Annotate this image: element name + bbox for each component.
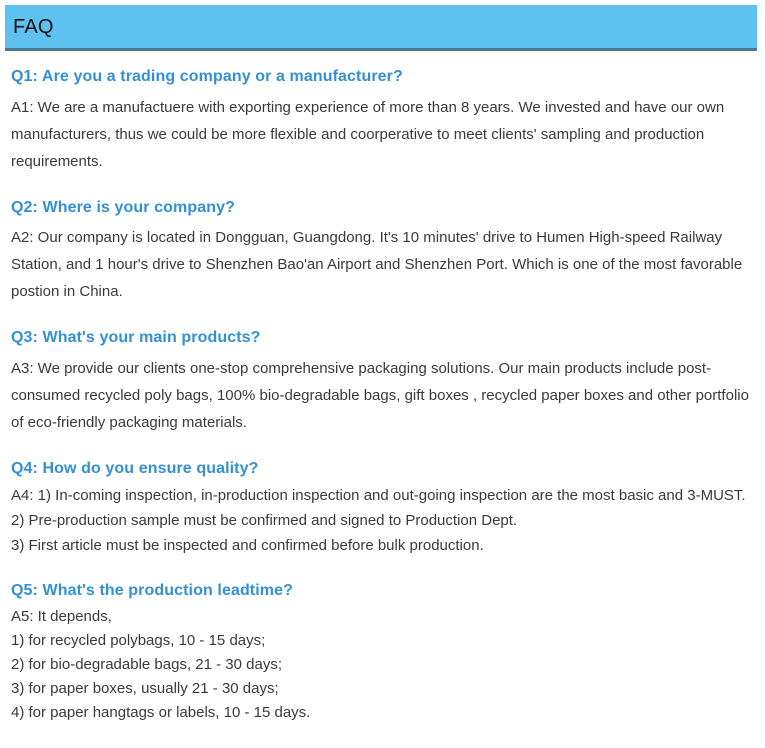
faq-answer-line: 4) for paper hangtags or labels, 10 - 15… — [11, 701, 751, 725]
faq-answer-line: A2: Our company is located in Dongguan, … — [11, 224, 751, 305]
page-title: FAQ — [5, 17, 54, 37]
faq-answer-line: 3) for paper boxes, usually 21 - 30 days… — [11, 677, 751, 701]
faq-item-q5: Q5: What's the production leadtime? A5: … — [11, 580, 751, 725]
faq-answer-line: A3: We provide our clients one-stop comp… — [11, 355, 751, 436]
faq-item-q3: Q3: What's your main products? A3: We pr… — [11, 327, 751, 436]
faq-answer-line: A5: It depends, — [11, 605, 751, 629]
faq-answer-line: 1) for recycled polybags, 10 - 15 days; — [11, 629, 751, 653]
faq-answer-line: 2) Pre-production sample must be confirm… — [11, 508, 751, 533]
faq-item-q2: Q2: Where is your company? A2: Our compa… — [11, 197, 751, 306]
faq-answer-line: A4: 1) In-coming inspection, in-producti… — [11, 483, 751, 508]
faq-question-q5: Q5: What's the production leadtime? — [11, 580, 751, 602]
faq-question-q3: Q3: What's your main products? — [11, 327, 751, 349]
faq-answer-q5: A5: It depends, 1) for recycled polybags… — [11, 605, 751, 725]
faq-answer-q2: A2: Our company is located in Dongguan, … — [11, 224, 751, 305]
faq-item-q1: Q1: Are you a trading company or a manuf… — [11, 66, 751, 175]
faq-question-q4: Q4: How do you ensure quality? — [11, 458, 751, 480]
faq-answer-line: 3) First article must be inspected and c… — [11, 533, 751, 558]
faq-header-banner: FAQ — [5, 5, 757, 51]
faq-answer-q4: A4: 1) In-coming inspection, in-producti… — [11, 483, 751, 558]
faq-page: FAQ Q1: Are you a trading company or a m… — [0, 0, 765, 748]
faq-answer-q1: A1: We are a manufactuere with exporting… — [11, 94, 751, 175]
faq-question-q1: Q1: Are you a trading company or a manuf… — [11, 66, 751, 88]
faq-question-q2: Q2: Where is your company? — [11, 197, 751, 219]
faq-answer-line: A1: We are a manufactuere with exporting… — [11, 94, 751, 175]
faq-answer-q3: A3: We provide our clients one-stop comp… — [11, 355, 751, 436]
faq-list: Q1: Are you a trading company or a manuf… — [11, 66, 751, 725]
faq-item-q4: Q4: How do you ensure quality? A4: 1) In… — [11, 458, 751, 559]
faq-answer-line: 2) for bio-degradable bags, 21 - 30 days… — [11, 653, 751, 677]
